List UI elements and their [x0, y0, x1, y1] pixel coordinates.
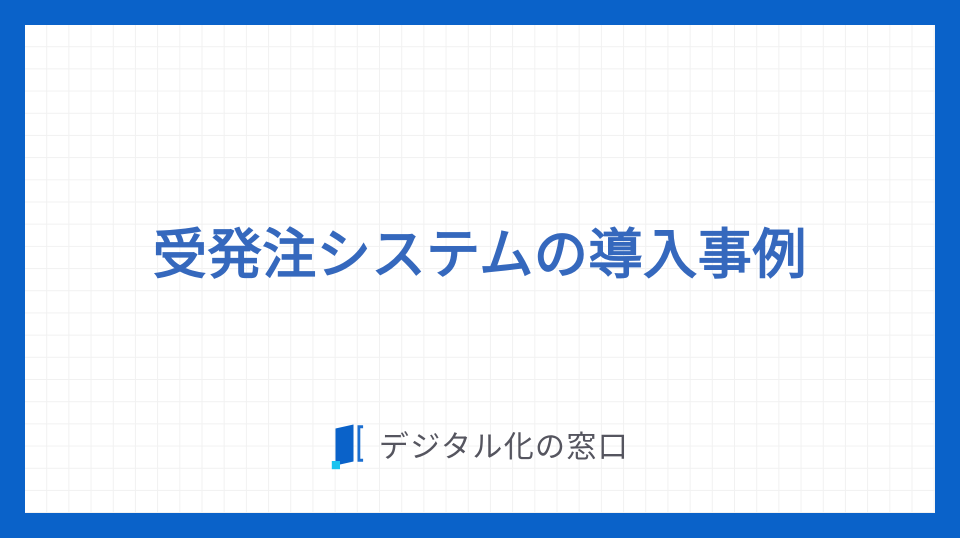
slide-canvas: 受発注システムの導入事例 デジタル化の窓口	[25, 25, 935, 513]
brand-wordmark: デジタル化の窓口	[379, 433, 629, 463]
title-block: 受発注システムの導入事例	[25, 228, 935, 282]
slide-frame: 受発注システムの導入事例 デジタル化の窓口	[0, 0, 960, 538]
brand-logo: デジタル化の窓口	[25, 423, 935, 470]
door-window-icon	[331, 423, 365, 470]
page-title: 受発注システムの導入事例	[25, 228, 935, 282]
